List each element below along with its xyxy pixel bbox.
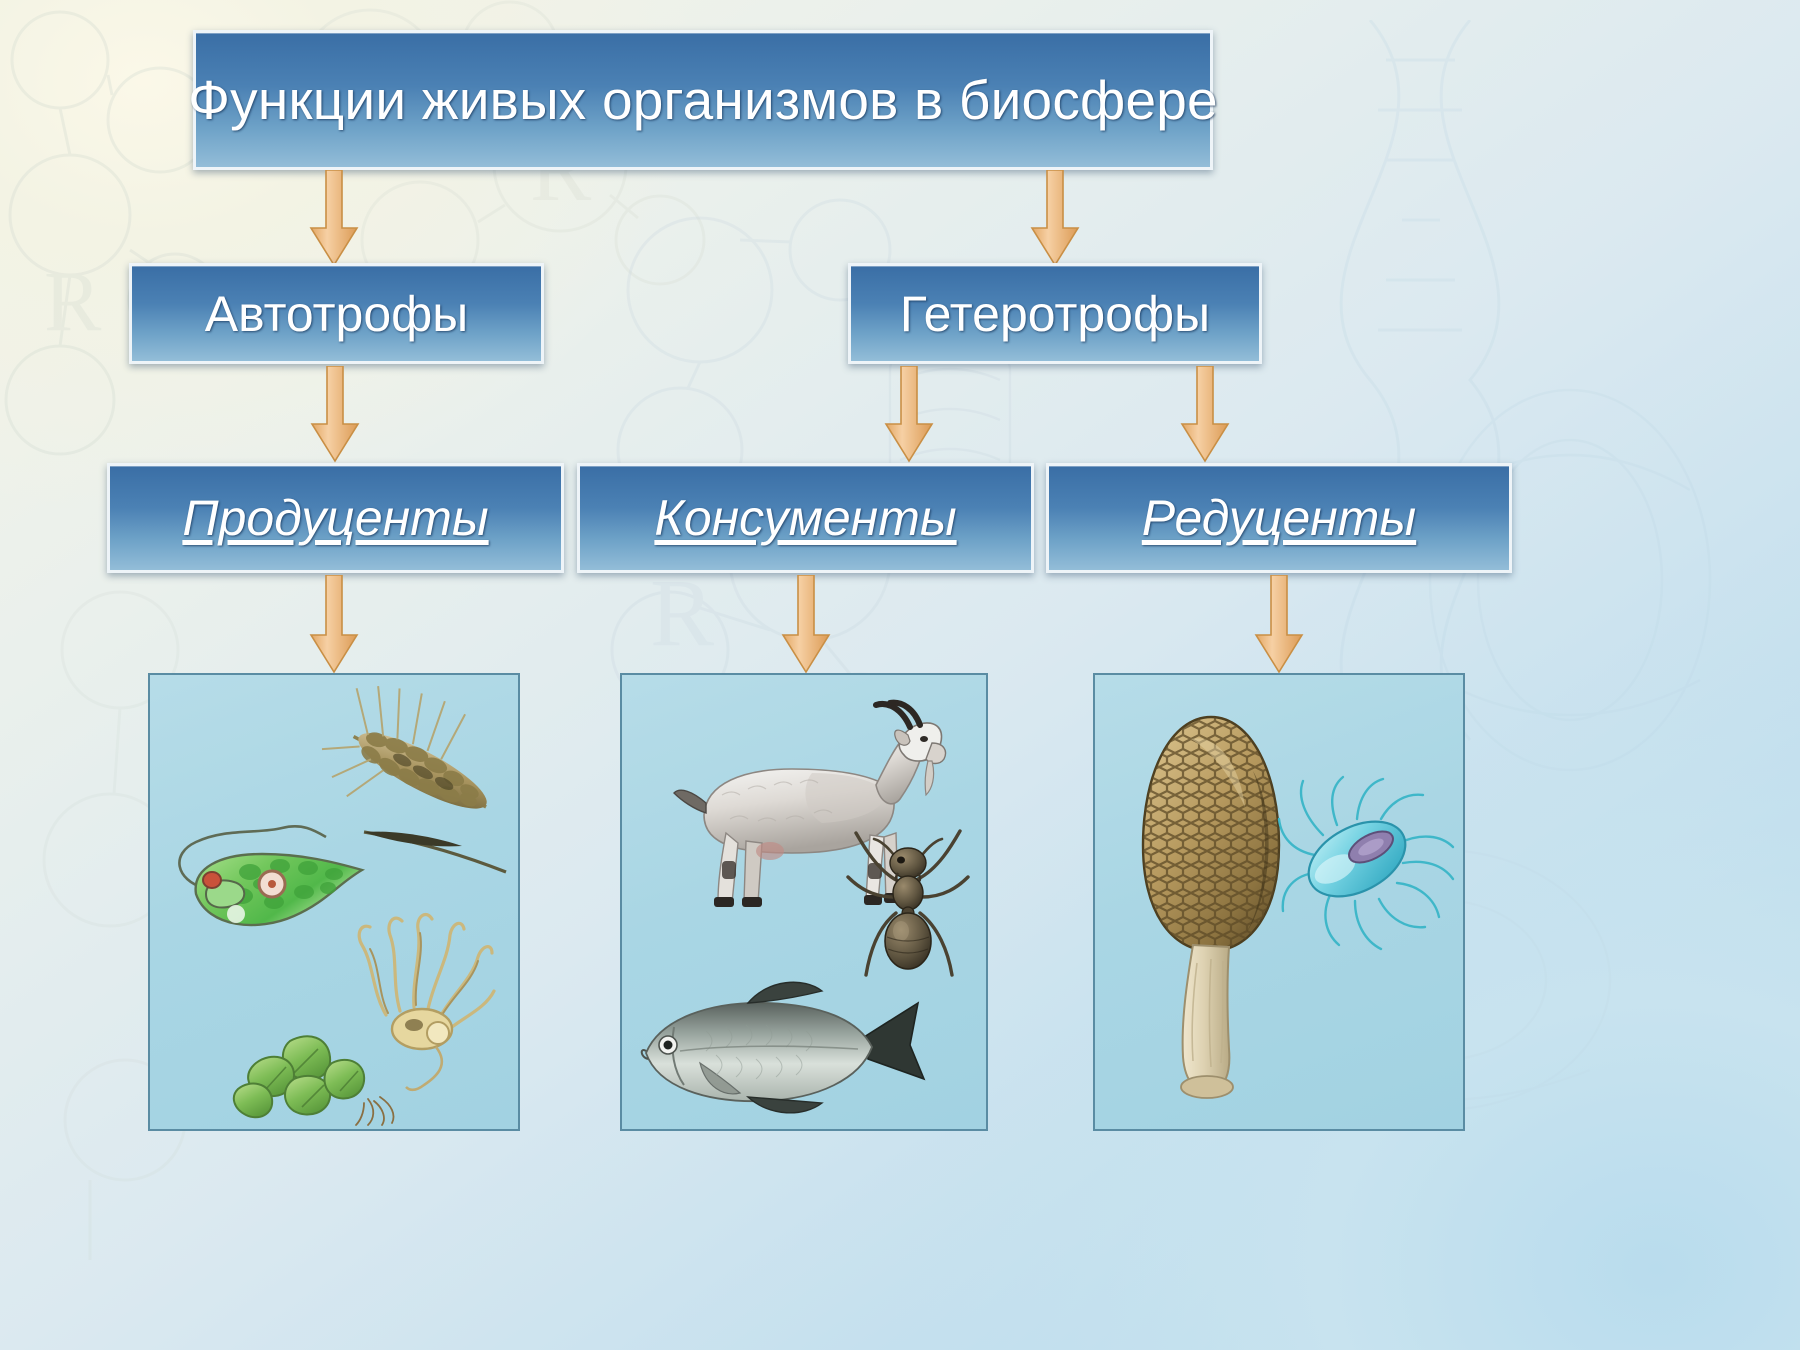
- arrow-heterotrophs-to-consumers: [882, 366, 936, 466]
- box-consumers: Консументы: [577, 463, 1034, 573]
- panel-consumers: [620, 673, 988, 1131]
- arrow-consumers-to-panel: [779, 575, 833, 677]
- box-heterotrophs-label: Гетеротрофы: [900, 285, 1210, 343]
- arrow-title-to-heterotrophs: [1028, 170, 1082, 270]
- fish-image: [628, 975, 928, 1125]
- slide-canvas: R R: [0, 0, 1800, 1350]
- svg-text:R: R: [650, 559, 714, 666]
- bacterium-image: [1277, 771, 1457, 971]
- box-autotrophs: Автотрофы: [129, 263, 544, 364]
- arrow-title-to-autotrophs: [307, 170, 361, 270]
- panel-producers: [148, 673, 520, 1131]
- green-plant-leaves-image: [232, 1023, 412, 1128]
- arrow-autotrophs-to-producers: [308, 366, 362, 466]
- svg-text:R: R: [44, 253, 102, 349]
- box-consumers-label: Консументы: [654, 489, 956, 547]
- title-box: Функции живых организмов в биосфере: [193, 30, 1213, 170]
- arrow-producers-to-panel: [307, 575, 361, 677]
- box-autotrophs-label: Автотрофы: [205, 285, 468, 343]
- arrow-reducers-to-panel: [1252, 575, 1306, 677]
- page-title: Функции живых организмов в биосфере: [188, 68, 1218, 132]
- arrow-heterotrophs-to-reducers: [1178, 366, 1232, 466]
- box-reducers-label: Редуценты: [1142, 489, 1416, 547]
- panel-reducers: [1093, 673, 1465, 1131]
- box-heterotrophs: Гетеротрофы: [848, 263, 1262, 364]
- box-producers-label: Продуценты: [182, 489, 488, 547]
- box-producers: Продуценты: [107, 463, 564, 573]
- box-reducers: Редуценты: [1046, 463, 1512, 573]
